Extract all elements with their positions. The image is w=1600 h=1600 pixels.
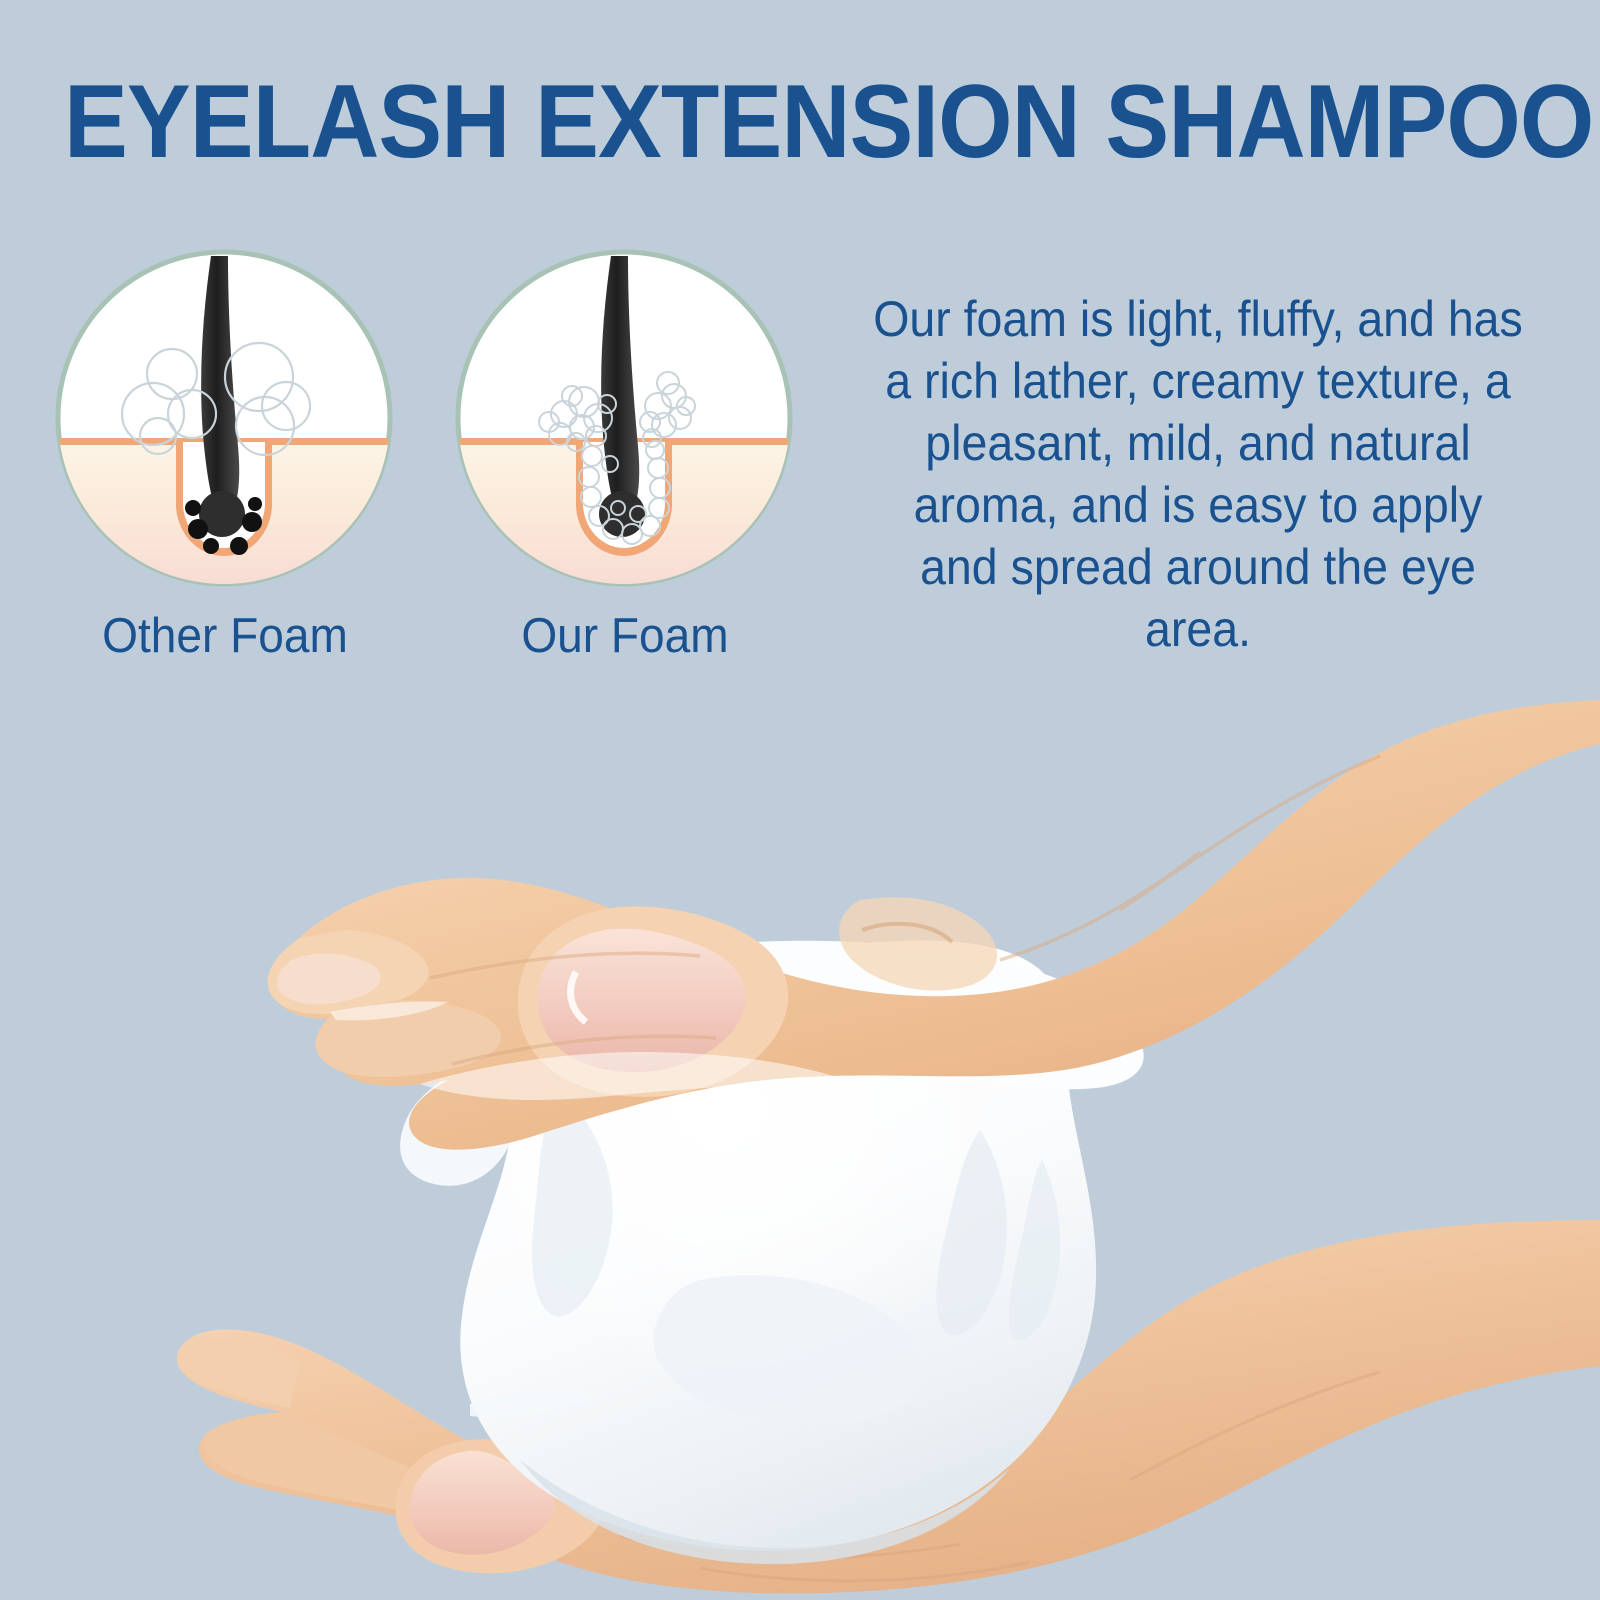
product-infographic: EYELASH EXTENSION SHAMPOO	[0, 0, 1600, 1600]
caption-our-foam: Our Foam	[489, 612, 762, 661]
diagram-our-foam	[452, 246, 796, 590]
page-title: EYELASH EXTENSION SHAMPOO	[64, 70, 1536, 174]
caption-other-foam: Other Foam	[89, 612, 362, 661]
foam-description-text: Our foam is light, fluffy, and has a ric…	[873, 288, 1524, 660]
diagram-other-foam	[52, 246, 396, 590]
hands-holding-foam-photo	[0, 660, 1600, 1600]
